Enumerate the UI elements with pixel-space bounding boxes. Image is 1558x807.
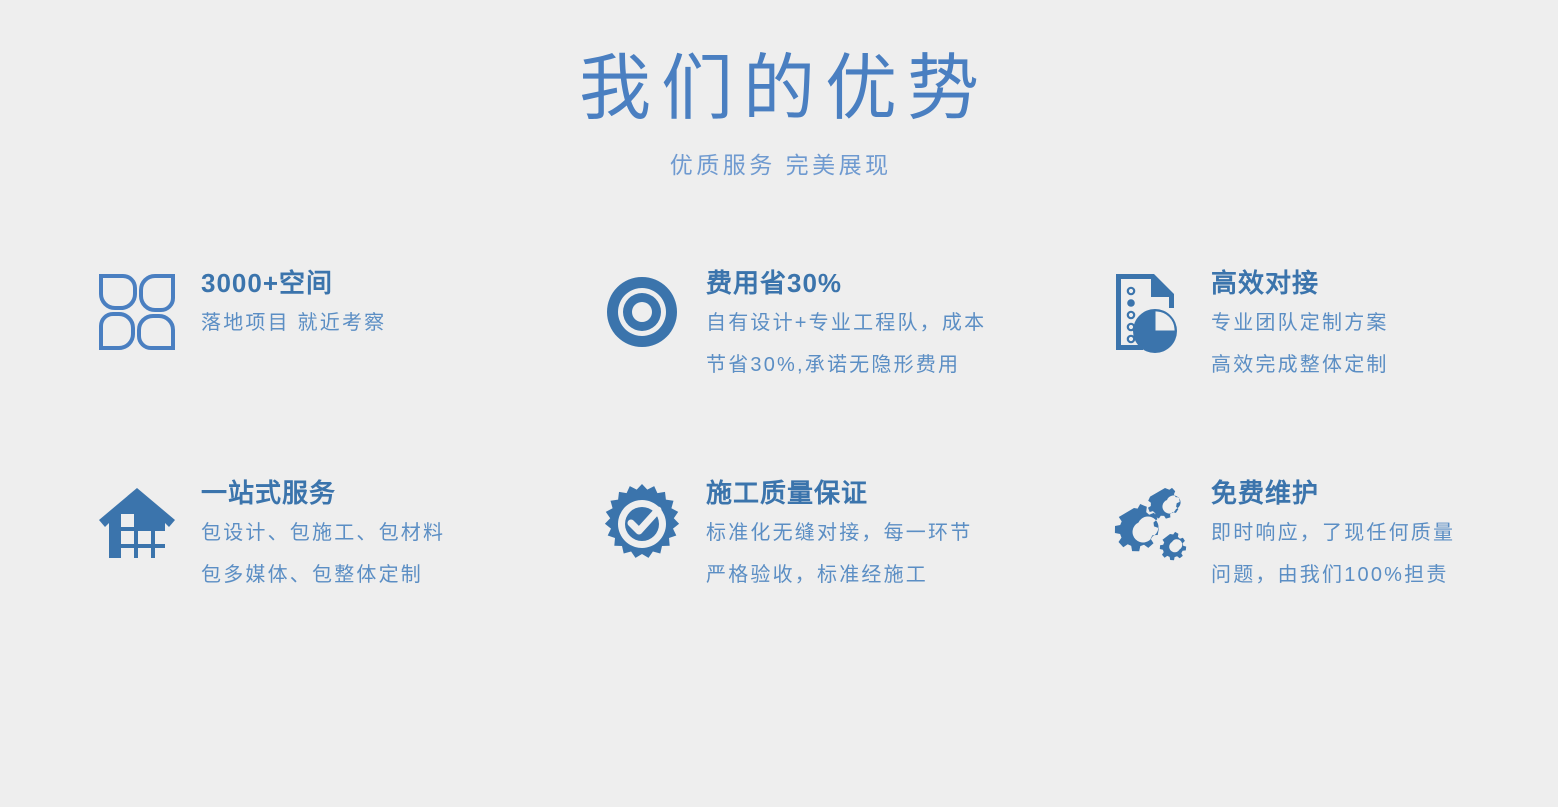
document-pie-chart-icon	[1105, 270, 1189, 354]
feature-text: 费用省30% 自有设计+专业工程队，成本 节省30%,承诺无隐形费用	[706, 268, 986, 375]
badge-check-icon	[600, 482, 684, 566]
feature-text: 免费维护 即时响应，了现任何质量 问题，由我们100%担责	[1211, 478, 1455, 585]
target-bullseye-icon	[600, 270, 684, 354]
feature-description-line: 包多媒体、包整体定制	[201, 565, 445, 585]
feature-title: 费用省30%	[706, 268, 986, 299]
feature-description-line: 即时响应，了现任何质量	[1211, 523, 1455, 543]
feature-grid: 3000+空间 落地项目 就近考察 费用省30% 自有设计+专业工程队，成本 节…	[95, 268, 1495, 688]
feature-description-line: 包设计、包施工、包材料	[201, 523, 445, 543]
feature-text: 3000+空间 落地项目 就近考察	[201, 268, 386, 333]
feature-description-line: 问题，由我们100%担责	[1211, 565, 1455, 585]
feature-item-one-stop-service: 一站式服务 包设计、包施工、包材料 包多媒体、包整体定制	[95, 478, 600, 688]
feature-description-line: 落地项目 就近考察	[201, 313, 386, 333]
feature-description-line: 严格验收，标准经施工	[706, 565, 972, 585]
feature-title: 一站式服务	[201, 478, 445, 509]
feature-item-quality-guarantee: 施工质量保证 标准化无缝对接，每一环节 严格验收，标准经施工	[600, 478, 1105, 688]
feature-item-cost-saving: 费用省30% 自有设计+专业工程队，成本 节省30%,承诺无隐形费用	[600, 268, 1105, 478]
feature-description-line: 高效完成整体定制	[1211, 355, 1389, 375]
feature-item-free-maintenance: 免费维护 即时响应，了现任何质量 问题，由我们100%担责	[1105, 478, 1495, 688]
feature-description-line: 自有设计+专业工程队，成本	[706, 313, 986, 333]
feature-item-efficient-contact: 高效对接 专业团队定制方案 高效完成整体定制	[1105, 268, 1495, 478]
page-header: 我们的优势 优质服务 完美展现	[0, 0, 1558, 180]
feature-item-space: 3000+空间 落地项目 就近考察	[95, 268, 600, 478]
page-title: 我们的优势	[0, 52, 1558, 128]
gears-icon	[1105, 482, 1189, 566]
feature-title: 高效对接	[1211, 268, 1389, 299]
feature-text: 高效对接 专业团队定制方案 高效完成整体定制	[1211, 268, 1389, 375]
house-icon	[95, 482, 179, 566]
feature-title: 施工质量保证	[706, 478, 972, 509]
feature-description-line: 专业团队定制方案	[1211, 313, 1389, 333]
four-petal-icon	[95, 270, 179, 354]
feature-title: 3000+空间	[201, 268, 386, 299]
feature-description-line: 节省30%,承诺无隐形费用	[706, 355, 986, 375]
feature-text: 一站式服务 包设计、包施工、包材料 包多媒体、包整体定制	[201, 478, 445, 585]
feature-description-line: 标准化无缝对接，每一环节	[706, 523, 972, 543]
feature-text: 施工质量保证 标准化无缝对接，每一环节 严格验收，标准经施工	[706, 478, 972, 585]
feature-title: 免费维护	[1211, 478, 1455, 509]
page-subtitle: 优质服务 完美展现	[0, 146, 1558, 180]
